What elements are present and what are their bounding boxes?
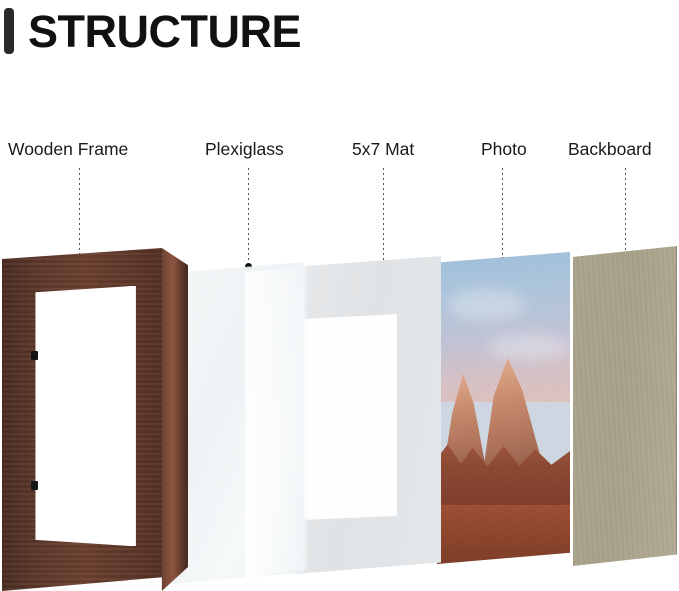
layer-photo — [437, 252, 570, 564]
frame-hardware-clip — [31, 481, 38, 490]
layer-wooden-frame — [2, 248, 188, 591]
infographic-page: STRUCTURE Wooden Frame Plexiglass 5x7 Ma… — [0, 0, 679, 591]
plexiglass-highlight — [245, 266, 307, 578]
photo-texture — [437, 252, 570, 564]
frame-opening — [35, 286, 135, 547]
layer-backboard — [573, 246, 677, 566]
exploded-diagram — [0, 0, 679, 591]
mat-cutout-window — [302, 314, 397, 520]
frame-hardware-clip — [31, 351, 38, 360]
